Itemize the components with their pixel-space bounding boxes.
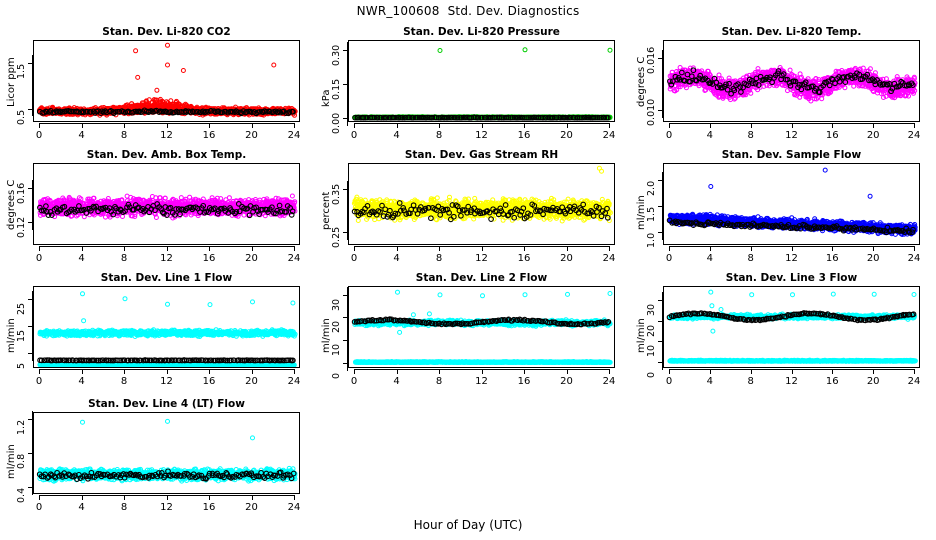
x-tick-label: 12: [780, 376, 804, 387]
panel-9: Stan. Dev. Line 4 (LT) Flow0.40.81.2ml/m…: [0, 398, 300, 514]
data-points: [349, 164, 615, 245]
x-tick-label: 4: [698, 376, 722, 387]
x-tick-label: 24: [282, 253, 306, 264]
y-tick-label: 0.25: [331, 227, 342, 248]
y-axis-line: [662, 292, 663, 370]
x-tick-label: 20: [555, 130, 579, 141]
x-tick-label: 20: [240, 253, 264, 264]
x-tick-mark: [914, 369, 915, 374]
x-tick-label: 4: [698, 130, 722, 141]
panel-title: Stan. Dev. Li-820 CO2: [33, 26, 300, 38]
x-tick-label: 12: [780, 130, 804, 141]
y-tick-label: 1.0: [646, 233, 657, 248]
x-tick-label: 12: [470, 130, 494, 141]
x-tick-label: 4: [70, 376, 94, 387]
y-axis-label: ml/min: [6, 444, 17, 479]
y-tick-label: 0.15: [331, 79, 342, 100]
plot-area: [33, 163, 300, 245]
y-axis-label: ml/min: [321, 318, 332, 353]
panel-4: Stan. Dev. Gas Stream RH0.250.35percent0…: [315, 149, 615, 265]
x-axis-line: [354, 246, 609, 247]
y-tick-label: 30: [331, 299, 342, 311]
figure-xlabel: Hour of Day (UTC): [0, 518, 936, 532]
y-axis-line: [32, 180, 33, 231]
x-tick-label: 8: [739, 130, 763, 141]
x-axis-line: [39, 369, 294, 370]
x-axis-line: [669, 246, 914, 247]
figure-title: NWR_100608 Std. Dev. Diagnostics: [0, 4, 936, 18]
panel-title: Stan. Dev. Li-820 Pressure: [348, 26, 615, 38]
plot-area: [33, 412, 300, 494]
panel-3: Stan. Dev. Amb. Box Temp.0.120.16degrees…: [0, 149, 300, 265]
x-tick-mark: [609, 123, 610, 128]
x-tick-label: 0: [27, 502, 51, 513]
y-tick-label: 2.0: [646, 181, 657, 196]
y-tick-label: 0.16: [16, 182, 27, 203]
panel-title: Stan. Dev. Li-820 Temp.: [663, 26, 920, 38]
y-axis-line: [662, 172, 663, 239]
y-axis-label: percent: [321, 192, 332, 230]
x-tick-label: 8: [112, 253, 136, 264]
data-points: [349, 41, 615, 122]
y-tick-label: 0.12: [16, 217, 27, 238]
data-points: [34, 413, 300, 494]
data-points: [34, 41, 300, 122]
plot-area: [663, 40, 920, 122]
y-axis-line: [32, 55, 33, 117]
y-tick-label: 0.00: [331, 113, 342, 134]
x-tick-label: 16: [197, 502, 221, 513]
x-tick-label: 16: [820, 253, 844, 264]
panel-0: Stan. Dev. Li-820 CO20.51.5Licor ppm0481…: [0, 26, 300, 142]
x-tick-label: 16: [512, 253, 536, 264]
x-tick-label: 4: [70, 130, 94, 141]
plot-area: [33, 40, 300, 122]
panel-title: Stan. Dev. Line 2 Flow: [348, 272, 615, 284]
data-points: [349, 287, 615, 368]
x-tick-label: 4: [698, 253, 722, 264]
x-tick-label: 0: [27, 253, 51, 264]
x-tick-mark: [914, 246, 915, 251]
y-axis-label: degrees C: [6, 180, 17, 230]
x-tick-label: 0: [342, 130, 366, 141]
x-tick-mark: [609, 246, 610, 251]
data-points: [34, 287, 300, 368]
x-tick-label: 24: [282, 130, 306, 141]
y-axis-label: kPa: [321, 90, 332, 108]
figure-root: NWR_100608 Std. Dev. Diagnostics Hour of…: [0, 0, 936, 540]
x-axis-line: [669, 369, 914, 370]
y-tick-label: 10: [646, 345, 657, 357]
panel-title: Stan. Dev. Gas Stream RH: [348, 149, 615, 161]
panel-title: Stan. Dev. Amb. Box Temp.: [33, 149, 300, 161]
x-tick-label: 0: [342, 253, 366, 264]
x-tick-label: 4: [70, 253, 94, 264]
data-points: [664, 41, 920, 122]
x-tick-label: 0: [657, 253, 681, 264]
x-tick-mark: [914, 123, 915, 128]
panel-2: Stan. Dev. Li-820 Temp.0.0100.016degrees…: [630, 26, 920, 142]
y-tick-label: 25: [16, 303, 27, 315]
x-axis-line: [354, 369, 609, 370]
x-tick-mark: [294, 123, 295, 128]
x-tick-label: 4: [70, 502, 94, 513]
y-tick-label: 1.5: [16, 63, 27, 78]
y-tick-label: 0: [646, 372, 657, 378]
x-axis-line: [39, 246, 294, 247]
data-points: [664, 287, 920, 368]
x-tick-label: 12: [155, 130, 179, 141]
x-tick-label: 24: [902, 253, 926, 264]
panel-6: Stan. Dev. Line 1 Flow51525ml/min0481216…: [0, 272, 300, 388]
x-tick-label: 0: [657, 376, 681, 387]
y-axis-line: [662, 50, 663, 118]
x-tick-label: 12: [780, 253, 804, 264]
x-tick-label: 20: [240, 502, 264, 513]
panel-7: Stan. Dev. Line 2 Flow0102030ml/min04812…: [315, 272, 615, 388]
x-tick-label: 16: [197, 376, 221, 387]
x-tick-label: 8: [427, 376, 451, 387]
x-tick-label: 12: [155, 376, 179, 387]
x-tick-label: 16: [512, 376, 536, 387]
x-tick-label: 4: [385, 130, 409, 141]
x-tick-mark: [294, 246, 295, 251]
data-points: [34, 164, 300, 245]
x-tick-label: 24: [282, 376, 306, 387]
x-tick-label: 20: [240, 376, 264, 387]
y-axis-label: degrees C: [636, 57, 647, 107]
y-axis-label: ml/min: [636, 318, 647, 353]
x-tick-label: 24: [902, 130, 926, 141]
y-axis-label: Licor ppm: [6, 57, 17, 107]
x-tick-label: 0: [27, 130, 51, 141]
x-tick-label: 8: [427, 253, 451, 264]
y-tick-label: 15: [16, 330, 27, 342]
x-tick-mark: [609, 369, 610, 374]
y-axis-label: ml/min: [636, 195, 647, 230]
y-axis-line: [32, 291, 33, 361]
y-axis-line: [347, 287, 348, 371]
panel-title: Stan. Dev. Line 3 Flow: [663, 272, 920, 284]
y-tick-label: 30: [646, 304, 657, 316]
plot-area: [348, 40, 615, 122]
x-tick-label: 8: [739, 376, 763, 387]
x-tick-label: 8: [112, 130, 136, 141]
x-tick-mark: [294, 369, 295, 374]
x-tick-label: 16: [197, 253, 221, 264]
panel-5: Stan. Dev. Sample Flow1.01.52.0ml/min048…: [630, 149, 920, 265]
y-tick-label: 0.8: [16, 454, 27, 469]
x-tick-label: 0: [342, 376, 366, 387]
y-tick-label: 20: [331, 321, 342, 333]
x-axis-line: [39, 495, 294, 496]
x-tick-label: 8: [739, 253, 763, 264]
y-tick-label: 0.35: [331, 184, 342, 205]
x-tick-label: 24: [597, 253, 621, 264]
plot-area: [663, 163, 920, 245]
y-tick-label: 0.4: [16, 488, 27, 503]
y-tick-label: 20: [646, 325, 657, 337]
x-axis-line: [39, 123, 294, 124]
x-tick-label: 20: [555, 253, 579, 264]
plot-area: [348, 286, 615, 368]
y-tick-label: 1.5: [646, 207, 657, 222]
y-tick-label: 0.010: [646, 98, 657, 125]
y-axis-label: ml/min: [6, 318, 17, 353]
x-tick-label: 24: [597, 376, 621, 387]
x-tick-label: 8: [112, 376, 136, 387]
y-tick-label: 0: [331, 373, 342, 379]
x-axis-line: [354, 123, 609, 124]
x-tick-label: 16: [820, 130, 844, 141]
y-tick-label: 0.30: [331, 45, 342, 66]
x-tick-label: 20: [861, 130, 885, 141]
x-tick-label: 16: [197, 130, 221, 141]
y-axis-line: [347, 42, 348, 126]
y-tick-label: 1.2: [16, 420, 27, 435]
plot-area: [663, 286, 920, 368]
x-tick-label: 16: [820, 376, 844, 387]
x-tick-label: 12: [470, 253, 494, 264]
x-tick-label: 16: [512, 130, 536, 141]
x-tick-label: 0: [27, 376, 51, 387]
panel-title: Stan. Dev. Line 4 (LT) Flow: [33, 398, 300, 410]
y-axis-line: [347, 181, 348, 240]
x-tick-label: 24: [282, 502, 306, 513]
x-tick-label: 24: [902, 376, 926, 387]
y-axis-line: [32, 411, 33, 495]
data-points: [664, 164, 920, 245]
x-tick-mark: [294, 495, 295, 500]
x-tick-label: 12: [155, 502, 179, 513]
y-tick-label: 0.5: [16, 109, 27, 124]
x-tick-label: 8: [112, 502, 136, 513]
y-tick-label: 10: [331, 344, 342, 356]
x-axis-line: [669, 123, 914, 124]
x-tick-label: 4: [385, 253, 409, 264]
plot-area: [348, 163, 615, 245]
panel-8: Stan. Dev. Line 3 Flow0102030ml/min04812…: [630, 272, 920, 388]
plot-area: [33, 286, 300, 368]
x-tick-label: 4: [385, 376, 409, 387]
x-tick-label: 20: [555, 376, 579, 387]
y-tick-label: 5: [16, 363, 27, 369]
panel-title: Stan. Dev. Sample Flow: [663, 149, 920, 161]
x-tick-label: 24: [597, 130, 621, 141]
x-tick-label: 8: [427, 130, 451, 141]
panel-1: Stan. Dev. Li-820 Pressure0.000.150.30kP…: [315, 26, 615, 142]
x-tick-label: 20: [861, 253, 885, 264]
x-tick-label: 12: [155, 253, 179, 264]
x-tick-label: 12: [470, 376, 494, 387]
x-tick-label: 0: [657, 130, 681, 141]
y-tick-label: 0.016: [646, 46, 657, 73]
x-tick-label: 20: [861, 376, 885, 387]
panel-title: Stan. Dev. Line 1 Flow: [33, 272, 300, 284]
x-tick-label: 20: [240, 130, 264, 141]
